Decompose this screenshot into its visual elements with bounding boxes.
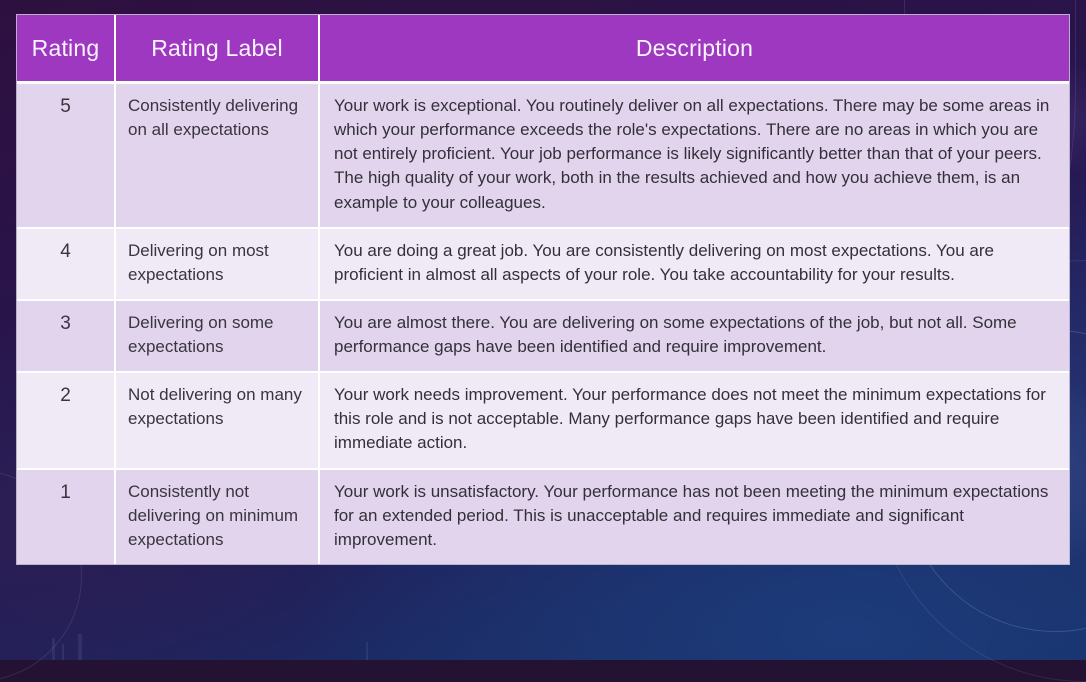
cell-rating: 1 xyxy=(17,469,115,564)
cell-description: Your work is exceptional. You routinely … xyxy=(319,83,1069,228)
table-row: 5 Consistently delivering on all expecta… xyxy=(17,83,1069,228)
cell-rating-label: Consistently delivering on all expectati… xyxy=(115,83,319,228)
table-header-row: Rating Rating Label Description xyxy=(17,15,1069,83)
cell-rating-label: Not delivering on many expectations xyxy=(115,372,319,468)
table-row: 4 Delivering on most expectations You ar… xyxy=(17,228,1069,300)
table-row: 1 Consistently not delivering on minimum… xyxy=(17,469,1069,564)
decorative-strip xyxy=(366,642,368,660)
cell-rating: 3 xyxy=(17,300,115,372)
decorative-strip xyxy=(52,638,55,660)
rating-scale-table: Rating Rating Label Description 5 Consis… xyxy=(17,15,1069,564)
cell-description: Your work needs improvement. Your perfor… xyxy=(319,372,1069,468)
table-header: Rating Rating Label Description xyxy=(17,15,1069,83)
cell-rating: 4 xyxy=(17,228,115,300)
cell-rating-label: Delivering on some expectations xyxy=(115,300,319,372)
rating-scale-table-container: Rating Rating Label Description 5 Consis… xyxy=(16,14,1070,565)
table-body: 5 Consistently delivering on all expecta… xyxy=(17,83,1069,564)
cell-description: You are almost there. You are delivering… xyxy=(319,300,1069,372)
cell-rating: 5 xyxy=(17,83,115,228)
cell-description: Your work is unsatisfactory. Your perfor… xyxy=(319,469,1069,564)
cell-description: You are doing a great job. You are consi… xyxy=(319,228,1069,300)
decorative-strip xyxy=(62,644,64,660)
cell-rating: 2 xyxy=(17,372,115,468)
table-row: 3 Delivering on some expectations You ar… xyxy=(17,300,1069,372)
table-row: 2 Not delivering on many expectations Yo… xyxy=(17,372,1069,468)
cell-rating-label: Delivering on most expectations xyxy=(115,228,319,300)
column-header-description: Description xyxy=(319,15,1069,83)
column-header-rating: Rating xyxy=(17,15,115,83)
cell-rating-label: Consistently not delivering on minimum e… xyxy=(115,469,319,564)
decorative-strip xyxy=(78,634,82,660)
column-header-rating-label: Rating Label xyxy=(115,15,319,83)
